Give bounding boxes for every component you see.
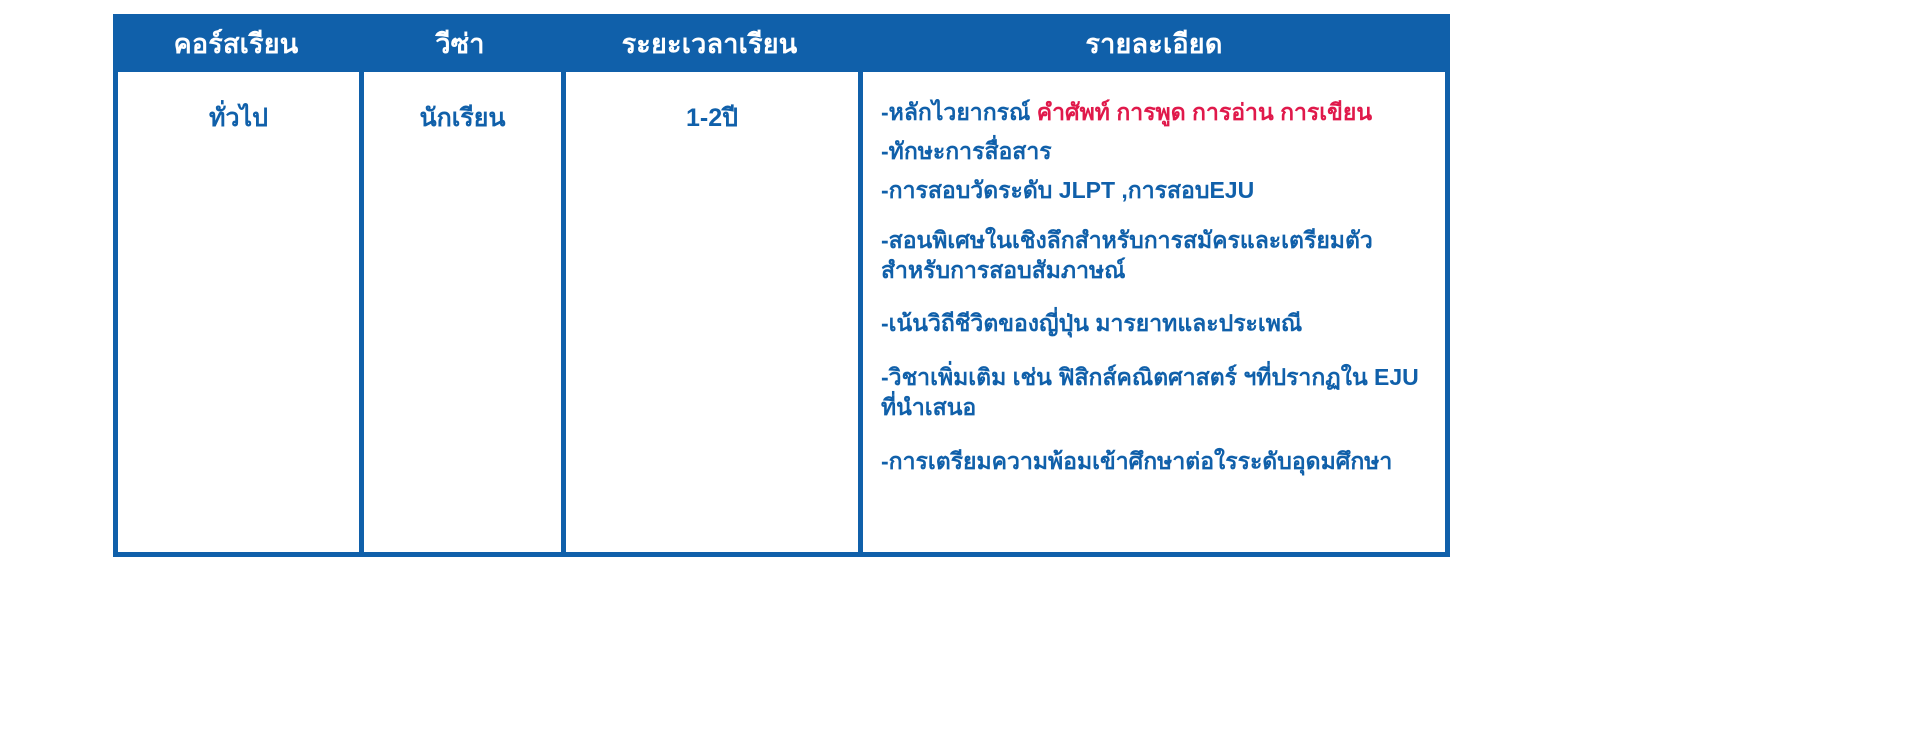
- cell-visa: นักเรียน: [359, 72, 561, 557]
- column-header-visa: วีซ่า: [359, 14, 561, 72]
- course-table: คอร์สเรียน วีซ่า ระยะเวลาเรียน รายละเอีย…: [113, 14, 1450, 557]
- column-header-course: คอร์สเรียน: [113, 14, 359, 72]
- cell-duration: 1-2ปี: [561, 72, 858, 557]
- detail-item-3: -สอนพิเศษในเชิงลึกสำหรับการสมัครและเตรีย…: [881, 226, 1429, 286]
- detail-item-4: -เน้นวิถีชีวิตของญี่ปุ่น มารยาทและประเพณ…: [881, 309, 1429, 339]
- detail-item-5: -วิชาเพิ่มเติม เช่น ฟิสิกส์คณิตศาสตร์ ฯท…: [881, 363, 1429, 423]
- detail-text-highlight: คำศัพท์ การพูด การอ่าน การเขียน: [1037, 99, 1372, 125]
- detail-item-6: -การเตรียมความพ้อมเข้าศึกษาต่อใรระดับอุด…: [881, 447, 1429, 477]
- detail-text-plain: -หลักไวยากรณ์: [881, 99, 1037, 125]
- table-row: ทั่วไป นักเรียน 1-2ปี -หลักไวยากรณ์ คำศั…: [113, 72, 1450, 557]
- detail-item-2: -การสอบวัดระดับ JLPT ,การสอบEJU: [881, 176, 1429, 206]
- table-header-row: คอร์สเรียน วีซ่า ระยะเวลาเรียน รายละเอีย…: [113, 14, 1450, 72]
- detail-item-0: -หลักไวยากรณ์ คำศัพท์ การพูด การอ่าน การ…: [881, 98, 1429, 128]
- cell-course: ทั่วไป: [113, 72, 359, 557]
- cell-details: -หลักไวยากรณ์ คำศัพท์ การพูด การอ่าน การ…: [858, 72, 1450, 557]
- column-header-details: รายละเอียด: [858, 14, 1450, 72]
- detail-item-1: -ทักษะการสื่อสาร: [881, 137, 1429, 167]
- column-header-duration: ระยะเวลาเรียน: [561, 14, 858, 72]
